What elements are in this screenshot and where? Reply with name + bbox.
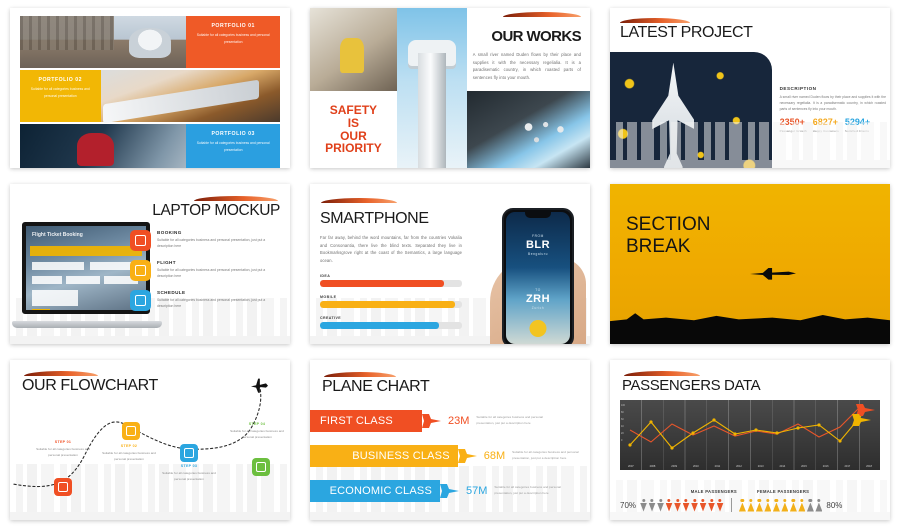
title-swoosh-icon — [624, 371, 700, 376]
feature-item-booking[interactable]: BOOKING Suitable for all categories busi… — [130, 230, 282, 251]
class-label: BUSINESS CLASS — [310, 445, 458, 467]
slide-laptop-mockup[interactable]: LAPTOP MOCKUP Flight Ticket Booking — [10, 184, 290, 344]
screen-field — [66, 276, 100, 284]
male-icon-row — [640, 499, 724, 512]
ratio-divider — [731, 498, 732, 512]
portfolio-card-1[interactable]: PORTFOLIO 01 Suitable for all categories… — [186, 16, 280, 68]
title-swoosh-icon — [321, 198, 397, 203]
plane-icon — [130, 260, 151, 281]
class-value: 68M — [484, 450, 505, 462]
plane-chart-title: PLANE CHART — [322, 378, 429, 396]
feature-heading: BOOKING — [157, 230, 282, 235]
plane-chart-row-first[interactable]: FIRST CLASS 23M Suitable for all categor… — [310, 408, 584, 434]
person-icon — [781, 499, 788, 512]
photo-control-tower — [397, 8, 467, 168]
class-label: FIRST CLASS — [310, 410, 422, 432]
male-percent: 70% — [620, 501, 636, 510]
flight-from-label: FROM — [504, 234, 572, 238]
step-body: Suitable for all categories business and… — [226, 428, 288, 440]
portfolio-card-1-body: Suitable for all categories business and… — [192, 32, 274, 46]
safety-line-1: SAFETY — [325, 104, 382, 117]
person-icon — [798, 499, 805, 512]
calendar-icon — [130, 290, 151, 311]
class-value: 57M — [466, 485, 487, 497]
step-body: Suitable for all categories business and… — [32, 446, 94, 458]
slide-cell-latest-project[interactable]: LATEST PROJECT DESCRIPTION A small river… — [600, 0, 900, 176]
chart-series — [620, 400, 880, 462]
skill-bar-creative: CREATIVE — [320, 316, 462, 329]
person-icon — [649, 499, 656, 512]
feature-item-schedule[interactable]: SCHEDULE Suitable for all categories bus… — [130, 290, 282, 311]
class-value: 23M — [448, 415, 469, 427]
phone-notch — [525, 212, 551, 218]
step-label: STEP 02 — [98, 444, 160, 448]
person-icon — [683, 499, 690, 512]
step-body: Suitable for all categories business and… — [98, 450, 160, 462]
plane-chart-row-business[interactable]: BUSINESS CLASS 68M Suitable for all cate… — [310, 443, 584, 469]
skill-label: IDEA — [320, 274, 462, 278]
person-icon — [708, 499, 715, 512]
slide-cell-smartphone[interactable]: SMARTPHONE Far far away, behind the word… — [300, 176, 600, 352]
slide-passengers-data[interactable]: PASSENGERS DATA 10080 6040 200 — [610, 360, 890, 520]
person-icon — [700, 499, 707, 512]
line-chart: 10080 6040 200 2 — [620, 400, 880, 470]
description-heading: DESCRIPTION — [780, 86, 886, 91]
feature-body: Suitable for all categories business and… — [157, 267, 282, 279]
person-icon — [807, 499, 814, 512]
feature-list: BOOKING Suitable for all categories busi… — [130, 230, 282, 320]
passenger-ratio-row: 70% — [620, 498, 880, 512]
description-body: A small river named Duden flows by their… — [780, 94, 886, 112]
slide-flowchart[interactable]: OUR FLOWCHART STEP 01 Suitable for all c… — [10, 360, 290, 520]
title-swoosh-icon — [194, 196, 278, 201]
slide-cell-our-works[interactable]: SAFETY IS OUR PRIORITY OUR WORKS A small… — [300, 0, 600, 176]
female-percent: 80% — [826, 501, 842, 510]
photo-cockpit — [467, 91, 590, 168]
chart-legend: MALE PASSENGERS FEMALE PASSENGERS — [610, 489, 890, 494]
legend-male: MALE PASSENGERS — [691, 489, 737, 494]
screen-app-title: Flight Ticket Booking — [32, 232, 83, 238]
safety-line-2: IS — [325, 117, 382, 130]
passengers-data-title: PASSENGERS DATA — [622, 377, 760, 394]
feature-heading: SCHEDULE — [157, 290, 282, 295]
skill-track — [320, 280, 462, 287]
person-icon — [739, 499, 746, 512]
skill-fill — [320, 280, 444, 287]
legend-female: FEMALE PASSENGERS — [757, 489, 809, 494]
section-break-text: SECTION BREAK — [626, 214, 710, 258]
our-works-text-block: OUR WORKS A small river named Duden flow… — [467, 8, 590, 91]
plane-arrow-icon — [422, 410, 442, 432]
person-icon — [717, 499, 724, 512]
our-works-body: A small river named Duden flows by their… — [473, 51, 581, 81]
skill-bar-idea: IDEA — [320, 274, 462, 287]
flight-from-code: BLR — [504, 239, 572, 251]
portfolio-card-2-body: Suitable for all categories business and… — [26, 86, 95, 100]
portfolio-card-3-title: PORTFOLIO 03 — [192, 131, 274, 137]
section-break-line-1: SECTION — [626, 214, 710, 236]
skill-label: MOBILE — [320, 295, 462, 299]
chart-x-axis: 20072008 20092010 20112012 20132014 2015… — [620, 465, 880, 468]
skill-label: CREATIVE — [320, 316, 462, 320]
ticket-icon — [130, 230, 151, 251]
portfolio-card-3[interactable]: PORTFOLIO 03 Suitable for all categories… — [186, 124, 280, 168]
flowchart-label-1: STEP 01 Suitable for all categories busi… — [32, 440, 94, 458]
class-desc: Suitable for all categories business and… — [512, 450, 584, 462]
slide-plane-chart[interactable]: PLANE CHART FIRST CLASS 23M Suitable for… — [310, 360, 590, 520]
safety-slogan-block: SAFETY IS OUR PRIORITY — [310, 91, 397, 168]
person-icon — [790, 499, 797, 512]
screen-field — [32, 276, 62, 284]
smartphone-body: Far far away, behind the word mountains,… — [320, 234, 462, 264]
slide-our-works[interactable]: SAFETY IS OUR PRIORITY OUR WORKS A small… — [310, 8, 590, 168]
class-label: ECONOMIC CLASS — [310, 480, 440, 502]
person-icon — [815, 499, 822, 512]
latest-project-title: LATEST PROJECT — [620, 24, 753, 42]
slide-cell-portfolio[interactable]: PORTFOLIO 01 Suitable for all categories… — [0, 0, 300, 176]
flowchart-label-4: STEP 04 Suitable for all categories busi… — [226, 422, 288, 440]
plane-arrow-icon — [440, 480, 460, 502]
screen-submit — [32, 309, 50, 314]
our-works-title: OUR WORKS — [473, 28, 581, 45]
skill-track — [320, 301, 462, 308]
skill-track — [320, 322, 462, 329]
flight-to-city: Zurich — [504, 306, 572, 310]
feature-item-flight[interactable]: FLIGHT Suitable for all categories busin… — [130, 260, 282, 281]
title-swoosh-icon — [620, 18, 690, 23]
phone-search-button[interactable] — [530, 320, 547, 337]
portfolio-card-2-title: PORTFOLIO 02 — [26, 77, 95, 83]
series-female — [630, 416, 861, 448]
section-break-line-2: BREAK — [626, 236, 710, 258]
slide-latest-project[interactable]: LATEST PROJECT DESCRIPTION A small river… — [610, 8, 890, 168]
feature-body: Suitable for all categories business and… — [157, 297, 282, 309]
flowchart-node-1[interactable] — [54, 478, 72, 496]
flowchart-label-3: STEP 03 Suitable for all categories busi… — [158, 464, 220, 482]
screen-field — [32, 262, 84, 270]
screen-panel — [32, 290, 78, 306]
flowchart-node-4[interactable] — [252, 458, 270, 476]
portfolio-card-3-body: Suitable for all categories business and… — [192, 140, 274, 154]
slide-smartphone[interactable]: SMARTPHONE Far far away, behind the word… — [310, 184, 590, 344]
plane-chart-row-economic[interactable]: ECONOMIC CLASS 57M Suitable for all cate… — [310, 478, 584, 504]
slide-cell-passengers-data[interactable]: PASSENGERS DATA 10080 6040 200 — [600, 352, 900, 528]
flight-to-code: ZRH — [504, 293, 572, 305]
title-swoosh-icon — [503, 12, 581, 17]
city-silhouette — [610, 122, 890, 168]
person-icon — [666, 499, 673, 512]
person-icon — [674, 499, 681, 512]
portfolio-card-2[interactable]: PORTFOLIO 02 Suitable for all categories… — [20, 70, 101, 122]
photo-office-worker — [310, 8, 397, 91]
step-label: STEP 01 — [32, 440, 94, 444]
safety-line-4: PRIORITY — [325, 142, 382, 155]
laptop-mockup-title: LAPTOP MOCKUP — [152, 202, 280, 220]
flowchart-node-3[interactable] — [180, 444, 198, 462]
title-swoosh-icon — [324, 372, 396, 377]
person-icon — [764, 499, 771, 512]
laptop-base — [12, 321, 162, 328]
plane-arrow-icon — [458, 445, 478, 467]
skill-bars: IDEA MOBILE CREATIVE — [320, 274, 462, 329]
skill-fill — [320, 322, 439, 329]
class-desc: Suitable for all categories business and… — [494, 485, 566, 497]
flowchart-label-2: STEP 02 Suitable for all categories busi… — [98, 444, 160, 462]
flowchart-node-2[interactable] — [122, 422, 140, 440]
slide-cell-laptop-mockup[interactable]: LAPTOP MOCKUP Flight Ticket Booking — [0, 176, 300, 352]
smartphone-text-block: SMARTPHONE Far far away, behind the word… — [320, 210, 462, 337]
person-icon — [691, 499, 698, 512]
plane-silhouette-icon — [750, 267, 796, 280]
safety-slogan-text: SAFETY IS OUR PRIORITY — [325, 104, 382, 155]
skill-fill — [320, 301, 455, 308]
person-icon — [657, 499, 664, 512]
slide-cell-section-break[interactable]: SECTION BREAK — [600, 176, 900, 352]
step-label: STEP 04 — [226, 422, 288, 426]
feature-body: Suitable for all categories business and… — [157, 237, 282, 249]
phone-mockup: FROM BLR Bengaluru TO ZRH Zurich — [502, 208, 574, 344]
person-icon — [756, 499, 763, 512]
slide-cell-plane-chart[interactable]: PLANE CHART FIRST CLASS 23M Suitable for… — [300, 352, 600, 528]
skill-bar-mobile: MOBILE — [320, 295, 462, 308]
person-icon — [747, 499, 754, 512]
person-icon — [773, 499, 780, 512]
screen-search-bar — [30, 246, 142, 256]
slide-cell-flowchart[interactable]: OUR FLOWCHART STEP 01 Suitable for all c… — [0, 352, 300, 528]
feature-heading: FLIGHT — [157, 260, 282, 265]
person-icon — [640, 499, 647, 512]
smartphone-title: SMARTPHONE — [320, 210, 462, 228]
class-desc: Suitable for all categories business and… — [476, 415, 548, 427]
skyline-silhouette — [610, 300, 890, 344]
slide-grid: PORTFOLIO 01 Suitable for all categories… — [0, 0, 900, 528]
flight-to-label: TO — [504, 288, 572, 292]
series-male — [630, 406, 861, 442]
slide-section-break[interactable]: SECTION BREAK — [610, 184, 890, 344]
flight-from-city: Bengaluru — [504, 252, 572, 256]
step-body: Suitable for all categories business and… — [158, 470, 220, 482]
female-icon-row — [739, 499, 823, 512]
slide-portfolio[interactable]: PORTFOLIO 01 Suitable for all categories… — [10, 8, 290, 168]
portfolio-card-1-title: PORTFOLIO 01 — [192, 23, 274, 29]
plane-chart-rows: FIRST CLASS 23M Suitable for all categor… — [310, 408, 584, 513]
step-label: STEP 03 — [158, 464, 220, 468]
portfolio-photo-stack: PORTFOLIO 01 Suitable for all categories… — [20, 16, 280, 160]
